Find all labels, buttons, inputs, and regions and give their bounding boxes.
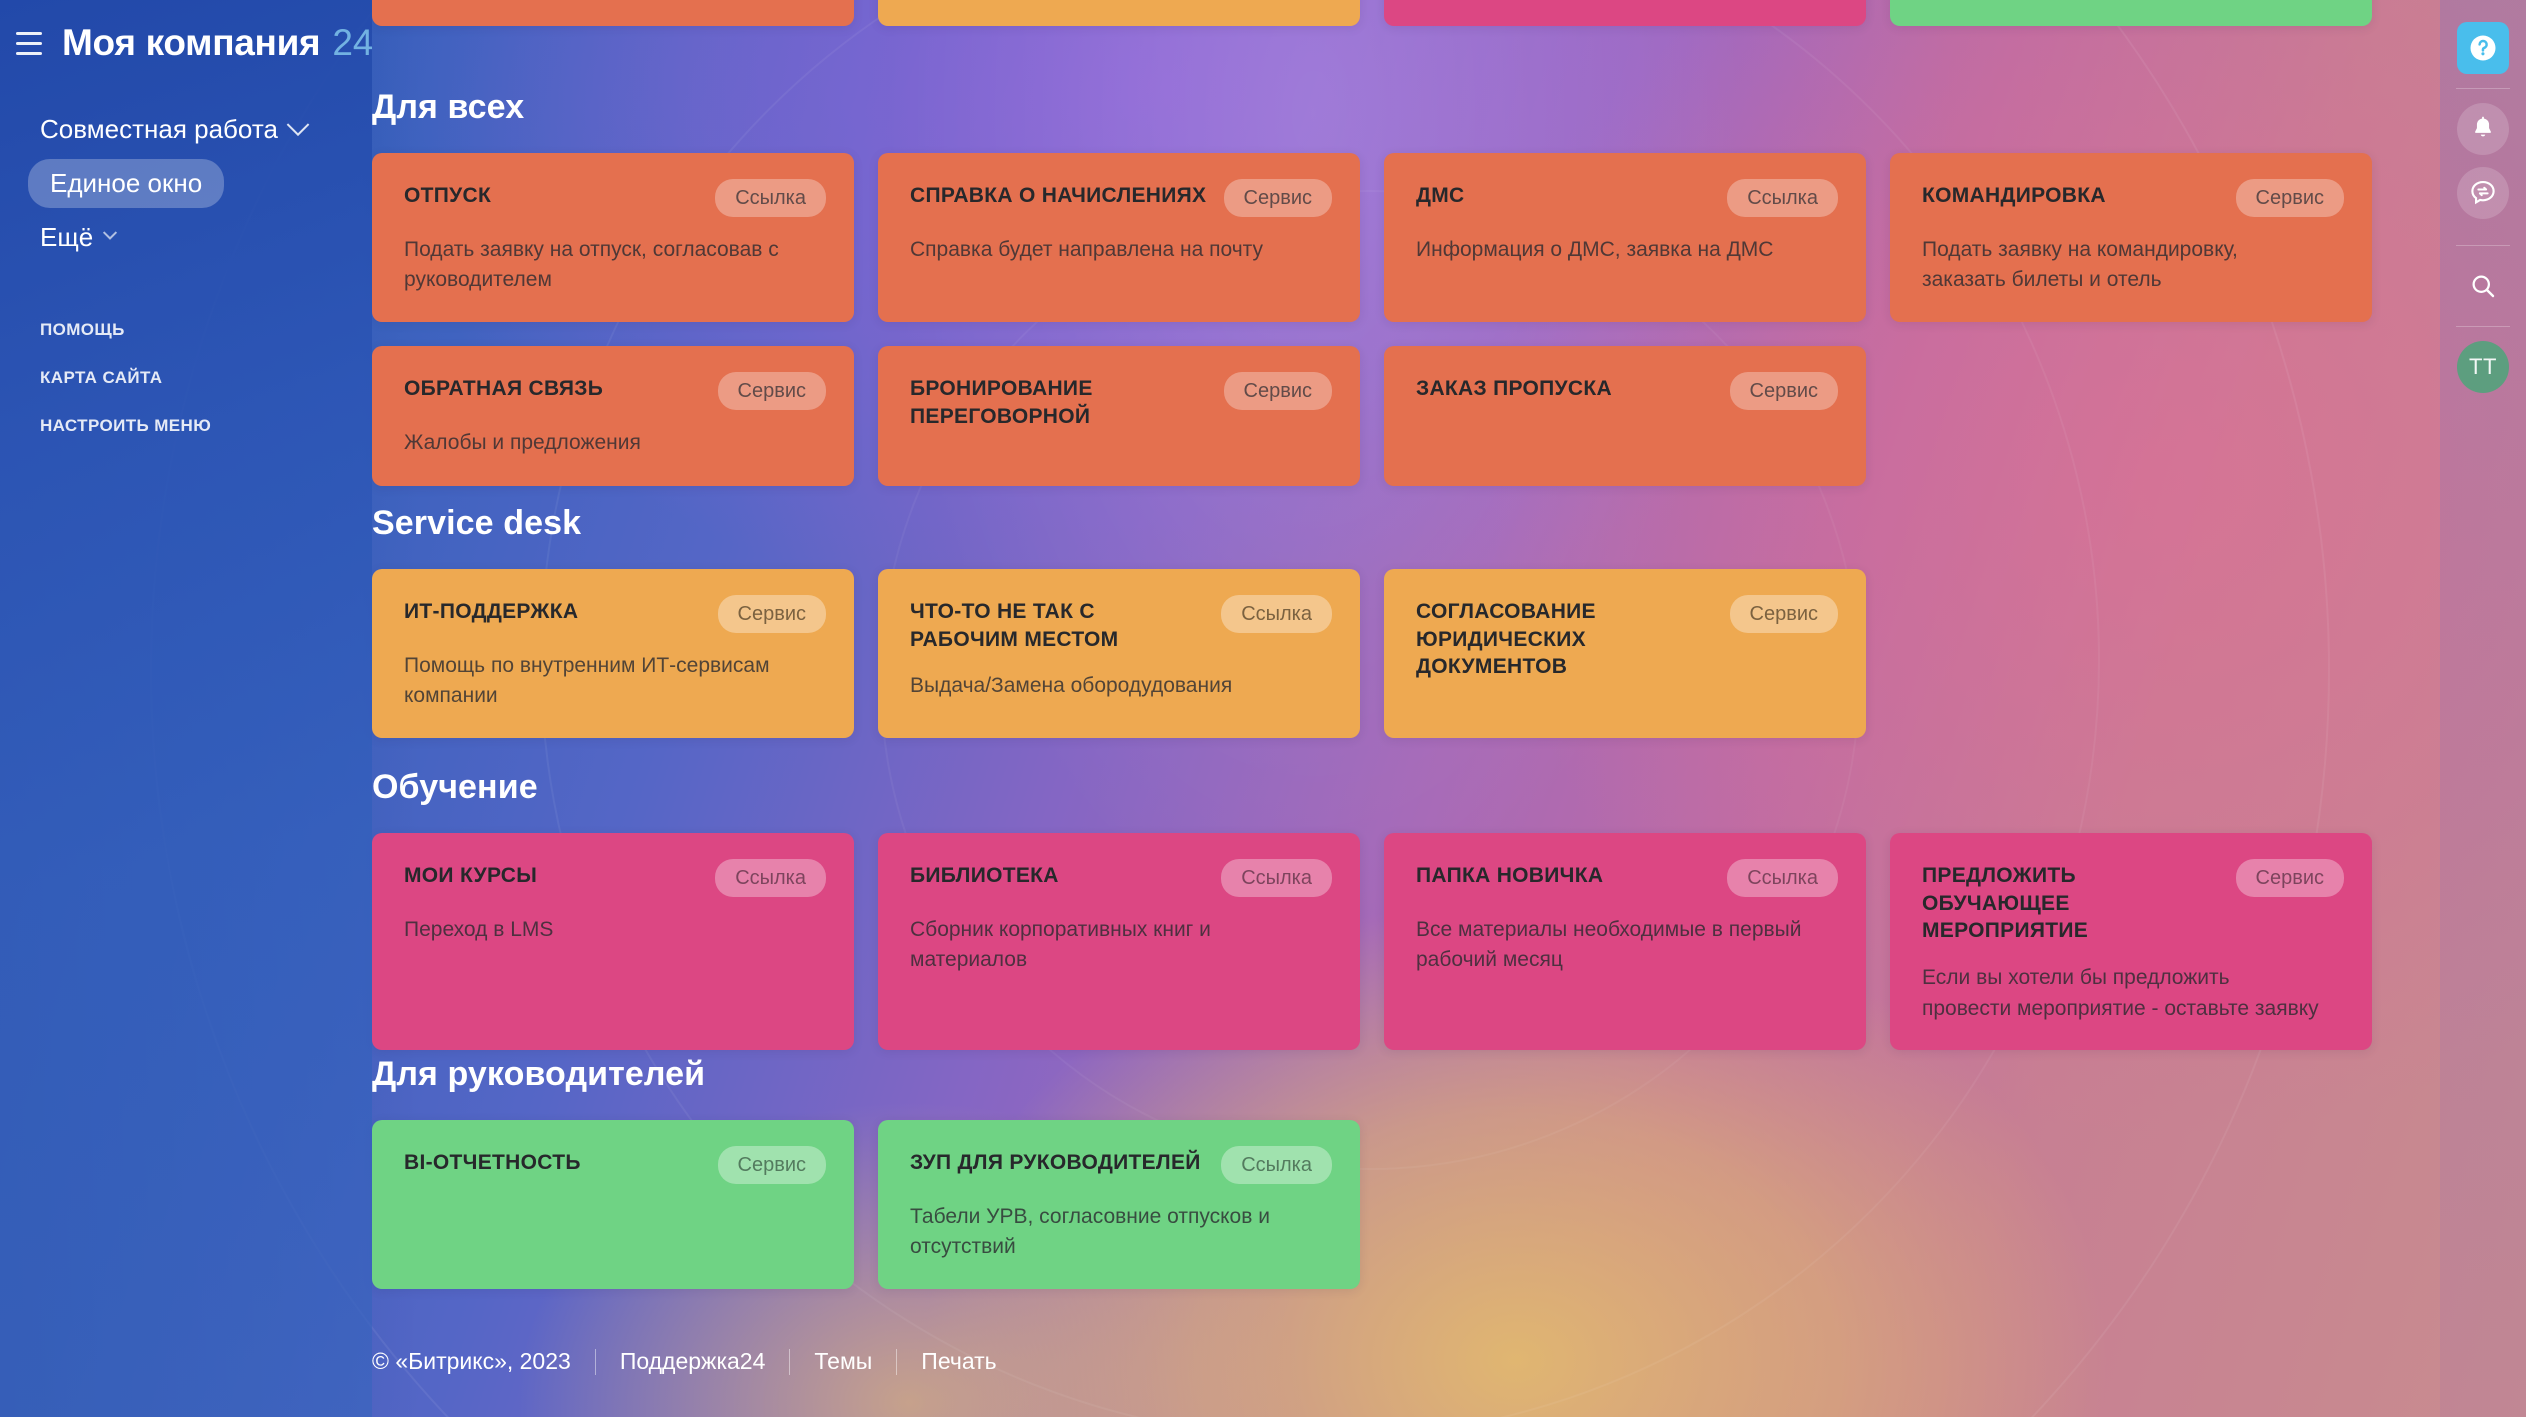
card-badge[interactable]: Ссылка <box>715 859 826 897</box>
card-head: ОБРАТНАЯ СВЯЗЬ Сервис <box>404 372 826 410</box>
right-rail: ТТ <box>2440 0 2526 1417</box>
card-description: Переход в LMS <box>404 915 804 945</box>
card[interactable] <box>1384 0 1866 26</box>
card-dms[interactable]: ДМС Ссылка Информация о ДМС, заявка на Д… <box>1384 153 1866 322</box>
card-title: ЧТО-ТО НЕ ТАК С РАБОЧИМ МЕСТОМ <box>910 595 1207 653</box>
card-badge[interactable]: Ссылка <box>1221 595 1332 633</box>
card-meeting-room-booking[interactable]: БРОНИРОВАНИЕ ПЕРЕГОВОРНОЙ Сервис <box>878 346 1360 486</box>
card-title: BI-ОТЧЕТНОСТЬ <box>404 1146 581 1177</box>
card-pass-request[interactable]: ЗАКАЗ ПРОПУСКА Сервис <box>1384 346 1866 486</box>
card-badge[interactable]: Сервис <box>2236 859 2345 897</box>
card-head: BI-ОТЧЕТНОСТЬ Сервис <box>404 1146 826 1184</box>
card-title: КОМАНДИРОВКА <box>1922 179 2106 210</box>
sidebar-item-collaboration[interactable]: Совместная работа <box>0 102 372 156</box>
card-title: ДМС <box>1416 179 1465 210</box>
footer-copyright: © «Битрикс», 2023 <box>372 1348 595 1375</box>
card-title: БИБЛИОТЕКА <box>910 859 1059 890</box>
card-badge[interactable]: Ссылка <box>715 179 826 217</box>
card-library[interactable]: БИБЛИОТЕКА Ссылка Сборник корпоративных … <box>878 833 1360 1050</box>
sidebar-spacer <box>0 264 372 306</box>
card-grid: МОИ КУРСЫ Ссылка Переход в LMS БИБЛИОТЕК… <box>372 833 2372 1050</box>
left-sidebar: Моя компания 24 Совместная работа Единое… <box>0 0 372 1417</box>
card-description: Жалобы и предложения <box>404 428 804 458</box>
top-clipped-card-row <box>372 0 2440 26</box>
footer-link-themes[interactable]: Темы <box>790 1348 896 1375</box>
card[interactable] <box>1890 0 2372 26</box>
card-title: ЗАКАЗ ПРОПУСКА <box>1416 372 1612 403</box>
card-badge[interactable]: Сервис <box>718 595 827 633</box>
card-description: Информация о ДМС, заявка на ДМС <box>1416 235 1816 265</box>
search-icon[interactable] <box>2457 260 2509 312</box>
card-head: БРОНИРОВАНИЕ ПЕРЕГОВОРНОЙ Сервис <box>910 372 1332 430</box>
avatar[interactable]: ТТ <box>2457 341 2509 393</box>
card-head: ЧТО-ТО НЕ ТАК С РАБОЧИМ МЕСТОМ Ссылка <box>910 595 1332 653</box>
card-title: МОИ КУРСЫ <box>404 859 537 890</box>
rail-divider-1 <box>2456 88 2510 89</box>
footer-link-support24[interactable]: Поддержка24 <box>596 1348 790 1375</box>
card-head: БИБЛИОТЕКА Ссылка <box>910 859 1332 897</box>
footer-link-print[interactable]: Печать <box>897 1348 1020 1375</box>
card-my-courses[interactable]: МОИ КУРСЫ Ссылка Переход в LMS <box>372 833 854 1050</box>
card-head: ЗУП ДЛЯ РУКОВОДИТЕЛЕЙ Ссылка <box>910 1146 1332 1184</box>
section-title: Обучение <box>372 768 2372 807</box>
card-bi-reporting[interactable]: BI-ОТЧЕТНОСТЬ Сервис <box>372 1120 854 1289</box>
sidebar-nav: Совместная работа Единое окно Ещё ПОМОЩЬ… <box>0 102 372 450</box>
card-title: ПРЕДЛОЖИТЬ ОБУЧАЮЩЕЕ МЕРОПРИЯТИЕ <box>1922 859 2222 945</box>
card-description: Выдача/Замена обородудования <box>910 671 1310 701</box>
card-grid: ИТ-ПОДДЕРЖКА Сервис Помощь по внутренним… <box>372 569 2372 738</box>
chevron-down-icon <box>287 113 310 136</box>
card-payroll-certificate[interactable]: СПРАВКА О НАЧИСЛЕНИЯХ Сервис Справка буд… <box>878 153 1360 322</box>
card-title: ЗУП ДЛЯ РУКОВОДИТЕЛЕЙ <box>910 1146 1201 1177</box>
card-title: СПРАВКА О НАЧИСЛЕНИЯХ <box>910 179 1206 210</box>
card-description: Подать заявку на командировку, заказать … <box>1922 235 2322 296</box>
card-badge[interactable]: Ссылка <box>1727 179 1838 217</box>
card-title: ПАПКА НОВИЧКА <box>1416 859 1603 890</box>
sidebar-item-single-window[interactable]: Единое окно <box>0 156 372 210</box>
card-workplace-issue[interactable]: ЧТО-ТО НЕ ТАК С РАБОЧИМ МЕСТОМ Ссылка Вы… <box>878 569 1360 738</box>
card-badge[interactable]: Сервис <box>1730 372 1839 410</box>
card-description: Табели УРВ, согласовние отпусков и отсут… <box>910 1202 1310 1263</box>
section-for-managers: Для руководителей BI-ОТЧЕТНОСТЬ Сервис З… <box>372 1055 2372 1289</box>
brand-title-wrap[interactable]: Моя компания 24 <box>62 22 372 64</box>
card-head: СОГЛАСОВАНИЕ ЮРИДИЧЕСКИХ ДОКУМЕНТОВ Серв… <box>1416 595 1838 681</box>
chevron-down-small-icon <box>103 226 117 240</box>
card[interactable] <box>878 0 1360 26</box>
card-head: ПАПКА НОВИЧКА Ссылка <box>1416 859 1838 897</box>
chat-exchange-icon[interactable] <box>2457 167 2509 219</box>
hamburger-menu-icon[interactable] <box>12 28 46 58</box>
section-title: Service desk <box>372 504 2372 543</box>
card-head: ЗАКАЗ ПРОПУСКА Сервис <box>1416 372 1838 410</box>
card-badge[interactable]: Сервис <box>1224 372 1333 410</box>
rail-divider-3 <box>2456 326 2510 327</box>
card-description: Подать заявку на отпуск, согласовав с ру… <box>404 235 804 296</box>
card-grid <box>372 0 2440 26</box>
sidebar-item-configure-menu[interactable]: НАСТРОИТЬ МЕНЮ <box>0 402 372 450</box>
card-grid: ОТПУСК Ссылка Подать заявку на отпуск, с… <box>372 153 2372 486</box>
card-newcomer-folder[interactable]: ПАПКА НОВИЧКА Ссылка Все материалы необх… <box>1384 833 1866 1050</box>
sidebar-item-label: Единое окно <box>28 159 224 208</box>
card-business-trip[interactable]: КОМАНДИРОВКА Сервис Подать заявку на ком… <box>1890 153 2372 322</box>
card-description: Сборник корпоративных книг и материалов <box>910 915 1310 976</box>
section-title: Для руководителей <box>372 1055 2372 1094</box>
section-for-everyone: Для всех ОТПУСК Ссылка Подать заявку на … <box>372 88 2372 486</box>
card[interactable] <box>372 0 854 26</box>
card-legal-docs-approval[interactable]: СОГЛАСОВАНИЕ ЮРИДИЧЕСКИХ ДОКУМЕНТОВ Серв… <box>1384 569 1866 738</box>
section-service-desk: Service desk ИТ-ПОДДЕРЖКА Сервис Помощь … <box>372 504 2372 738</box>
section-title: Для всех <box>372 88 2372 127</box>
section-education: Обучение МОИ КУРСЫ Ссылка Переход в LMS … <box>372 768 2372 1050</box>
card-description: Если вы хотели бы предложить провести ме… <box>1922 963 2322 1024</box>
card-zup-for-managers[interactable]: ЗУП ДЛЯ РУКОВОДИТЕЛЕЙ Ссылка Табели УРВ,… <box>878 1120 1360 1289</box>
brand-row: Моя компания 24 <box>0 0 372 86</box>
card-head: ДМС Ссылка <box>1416 179 1838 217</box>
card-badge[interactable]: Ссылка <box>1727 859 1838 897</box>
help-question-icon[interactable] <box>2457 22 2509 74</box>
card-it-support[interactable]: ИТ-ПОДДЕРЖКА Сервис Помощь по внутренним… <box>372 569 854 738</box>
card-title: СОГЛАСОВАНИЕ ЮРИДИЧЕСКИХ ДОКУМЕНТОВ <box>1416 595 1716 681</box>
card-head: МОИ КУРСЫ Ссылка <box>404 859 826 897</box>
card-badge[interactable]: Ссылка <box>1221 1146 1332 1184</box>
footer: © «Битрикс», 2023 Поддержка24 Темы Печат… <box>372 1348 1021 1375</box>
card-vacation[interactable]: ОТПУСК Ссылка Подать заявку на отпуск, с… <box>372 153 854 322</box>
sidebar-item-label: Ещё <box>40 222 93 253</box>
card-feedback[interactable]: ОБРАТНАЯ СВЯЗЬ Сервис Жалобы и предложен… <box>372 346 854 486</box>
rail-divider-2 <box>2456 245 2510 246</box>
card-description: Помощь по внутренним ИТ-сервисам компани… <box>404 651 804 712</box>
card-grid: BI-ОТЧЕТНОСТЬ Сервис ЗУП ДЛЯ РУКОВОДИТЕЛ… <box>372 1120 2372 1289</box>
card-head: ОТПУСК Ссылка <box>404 179 826 217</box>
sidebar-item-more[interactable]: Ещё <box>0 210 372 264</box>
card-badge[interactable]: Сервис <box>1224 179 1333 217</box>
card-title: БРОНИРОВАНИЕ ПЕРЕГОВОРНОЙ <box>910 372 1210 430</box>
card-head: ПРЕДЛОЖИТЬ ОБУЧАЮЩЕЕ МЕРОПРИЯТИЕ Сервис <box>1922 859 2344 945</box>
card-title: ОТПУСК <box>404 179 491 210</box>
page-root: Моя компания 24 Совместная работа Единое… <box>0 0 2526 1417</box>
sidebar-item-sitemap[interactable]: КАРТА САЙТА <box>0 354 372 402</box>
card-description: Справка будет направлена на почту <box>910 235 1310 265</box>
card-head: КОМАНДИРОВКА Сервис <box>1922 179 2344 217</box>
brand-title: Моя компания <box>62 22 320 64</box>
card-badge[interactable]: Сервис <box>1730 595 1839 633</box>
card-badge[interactable]: Сервис <box>718 1146 827 1184</box>
card-propose-training-event[interactable]: ПРЕДЛОЖИТЬ ОБУЧАЮЩЕЕ МЕРОПРИЯТИЕ Сервис … <box>1890 833 2372 1050</box>
card-description: Все материалы необходимые в первый рабоч… <box>1416 915 1816 976</box>
card-badge[interactable]: Сервис <box>718 372 827 410</box>
card-badge[interactable]: Сервис <box>2236 179 2345 217</box>
brand-suffix: 24 <box>332 22 372 64</box>
avatar-initials: ТТ <box>2469 354 2497 380</box>
card-title: ОБРАТНАЯ СВЯЗЬ <box>404 372 603 403</box>
card-title: ИТ-ПОДДЕРЖКА <box>404 595 578 626</box>
card-head: ИТ-ПОДДЕРЖКА Сервис <box>404 595 826 633</box>
card-head: СПРАВКА О НАЧИСЛЕНИЯХ Сервис <box>910 179 1332 217</box>
bell-notification-icon[interactable] <box>2457 103 2509 155</box>
card-badge[interactable]: Ссылка <box>1221 859 1332 897</box>
sidebar-item-label: Совместная работа <box>40 114 278 145</box>
sidebar-item-help[interactable]: ПОМОЩЬ <box>0 306 372 354</box>
main-content: Для всех ОТПУСК Ссылка Подать заявку на … <box>372 0 2440 1417</box>
